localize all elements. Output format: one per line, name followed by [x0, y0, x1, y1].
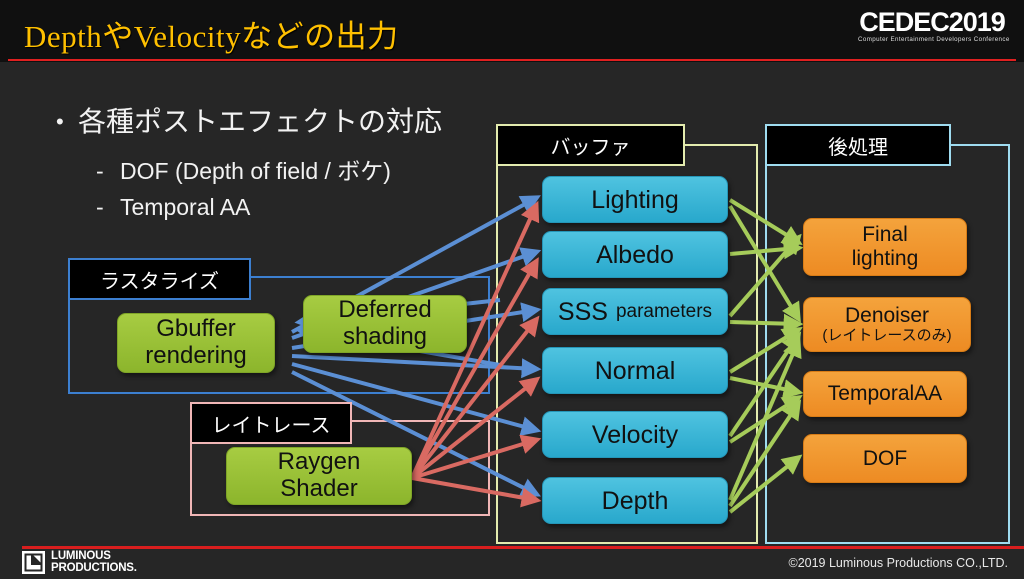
group-label-raytrace: レイトレース	[190, 402, 352, 444]
node-post-denoiser-note: (レイトレースのみ)	[822, 328, 951, 345]
node-buffer-velocity[interactable]: Velocity	[542, 411, 728, 458]
node-deferred-shading-line2: shading	[343, 324, 427, 351]
group-label-buffer-text: バッファ	[551, 131, 631, 160]
node-buffer-sss-label: SSS	[558, 298, 608, 326]
node-post-denoiser-label: Denoiser	[845, 304, 929, 328]
group-label-buffer: バッファ	[496, 124, 685, 166]
node-raygen-shader-line1: Raygen	[278, 449, 361, 476]
node-buffer-velocity-label: Velocity	[592, 421, 678, 449]
node-buffer-sss-parameters[interactable]: SSS parameters	[542, 288, 728, 335]
node-post-final-lighting[interactable]: Final lighting	[803, 218, 967, 276]
arrows-buffers-to-postprocess	[730, 200, 798, 512]
node-buffer-lighting-label: Lighting	[591, 186, 679, 214]
node-buffer-sss-parameters-label: parameters	[616, 301, 712, 322]
group-label-rasterize-text: ラスタライズ	[100, 265, 219, 294]
node-buffer-albedo[interactable]: Albedo	[542, 231, 728, 278]
group-label-rasterize: ラスタライズ	[68, 258, 251, 300]
node-buffer-depth[interactable]: Depth	[542, 477, 728, 524]
node-buffer-albedo-label: Albedo	[596, 241, 674, 269]
node-gbuffer-rendering-line2: rendering	[145, 343, 246, 370]
node-deferred-shading-line1: Deferred	[338, 297, 431, 324]
group-label-postprocess: 後処理	[765, 124, 951, 166]
node-post-final-lighting-line1: Final	[862, 223, 908, 247]
node-deferred-shading[interactable]: Deferred shading	[303, 295, 467, 353]
group-label-postprocess-text: 後処理	[828, 131, 888, 160]
group-label-raytrace-text: レイトレース	[212, 409, 331, 438]
node-buffer-depth-label: Depth	[602, 487, 669, 515]
node-raygen-shader-line2: Shader	[280, 476, 357, 503]
node-post-denoiser[interactable]: Denoiser (レイトレースのみ)	[803, 297, 971, 352]
node-post-temporalaa-label: TemporalAA	[828, 382, 942, 406]
node-post-temporalaa[interactable]: TemporalAA	[803, 371, 967, 417]
node-post-final-lighting-line2: lighting	[852, 247, 919, 271]
node-post-dof[interactable]: DOF	[803, 434, 967, 483]
node-gbuffer-rendering-line1: Gbuffer	[156, 316, 236, 343]
node-buffer-lighting[interactable]: Lighting	[542, 176, 728, 223]
node-raygen-shader[interactable]: Raygen Shader	[226, 447, 412, 505]
node-gbuffer-rendering[interactable]: Gbuffer rendering	[117, 313, 275, 373]
node-post-dof-label: DOF	[863, 447, 907, 471]
slide-root: DepthやVelocityなどの出力 CEDEC2019 Computer E…	[0, 0, 1024, 576]
node-buffer-normal-label: Normal	[595, 357, 676, 385]
node-buffer-normal[interactable]: Normal	[542, 347, 728, 394]
